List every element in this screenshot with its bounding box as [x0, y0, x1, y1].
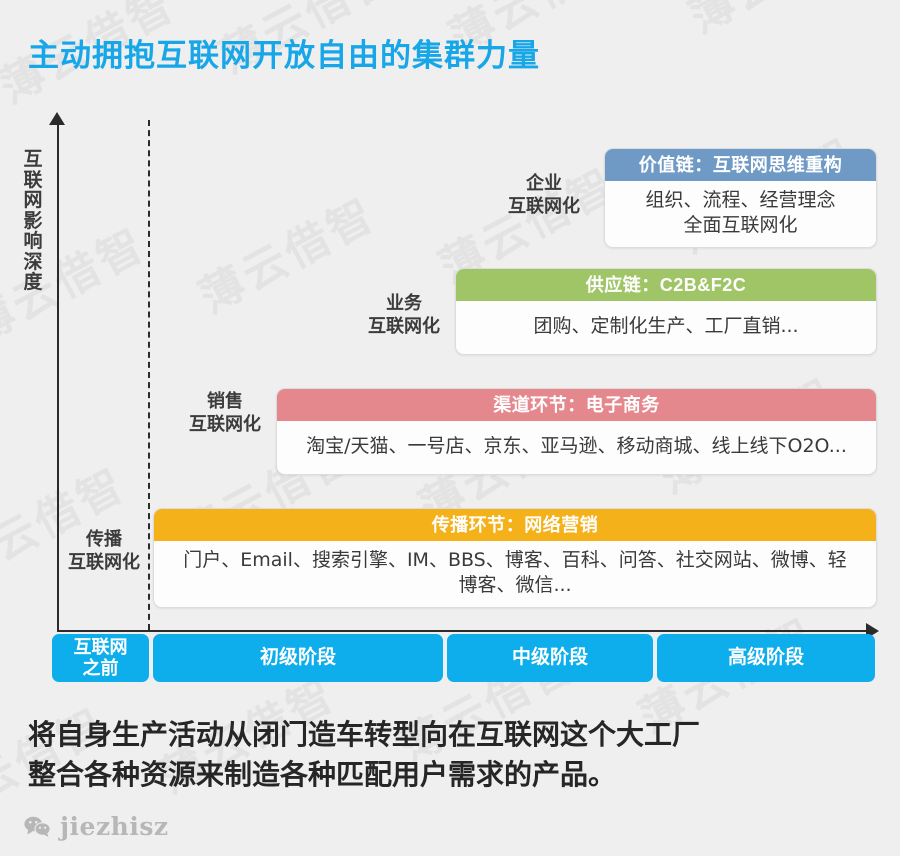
y-axis-label-char: 网: [18, 191, 48, 212]
caption-line-1: 将自身生产活动从闭门造车转型向在互联网这个大工厂: [28, 715, 888, 755]
stage-bar-advanced[interactable]: 高级阶段: [657, 634, 875, 682]
tier-body-business: 团购、定制化生产、工厂直销...: [456, 301, 876, 354]
stage-bar-pre-internet[interactable]: 互联网 之前: [52, 634, 149, 682]
tier-card-spread[interactable]: 传播环节：网络营销 门户、Email、搜索引擎、IM、BBS、博客、百科、问答、…: [153, 508, 877, 608]
wechat-icon: [24, 815, 51, 838]
tier-header-enterprise: 价值链：互联网思维重构: [605, 149, 876, 181]
y-axis-label-char: 响: [18, 232, 48, 253]
tier-header-spread: 传播环节：网络营销: [154, 509, 876, 541]
tier-body-line: 博客、微信...: [164, 573, 866, 598]
tier-body-line: 组织、流程、经营理念: [615, 188, 866, 213]
footer-handle: jiezhisz: [60, 812, 169, 841]
tier-label-sales: 销售 互联网化: [173, 390, 277, 435]
tier-header-business: 供应链：C2B&F2C: [456, 269, 876, 301]
tier-card-sales[interactable]: 渠道环节：电子商务 淘宝/天猫、一号店、京东、亚马逊、移动商城、线上线下O2O.…: [276, 388, 877, 475]
tier-label-line: 业务: [352, 292, 456, 315]
tier-card-business[interactable]: 供应链：C2B&F2C 团购、定制化生产、工厂直销...: [455, 268, 877, 355]
tier-label-line: 传播: [60, 528, 148, 551]
footer: jiezhisz: [24, 812, 169, 841]
stage-bar-line: 初级阶段: [260, 647, 336, 669]
tier-label-line: 互联网化: [60, 551, 148, 574]
page-title: 主动拥抱互联网开放自由的集群力量: [28, 30, 540, 75]
caption-line-2: 整合各种资源来制造各种匹配用户需求的产品。: [28, 755, 888, 795]
tier-body-line: 团购、定制化生产、工厂直销...: [466, 314, 866, 339]
y-axis-label-char: 影: [18, 212, 48, 233]
caption: 将自身生产活动从闭门造车转型向在互联网这个大工厂 整合各种资源来制造各种匹配用户…: [28, 715, 888, 795]
stage-bar-line: 互联网: [74, 637, 128, 658]
y-axis-label-char: 互: [18, 150, 48, 171]
stage-bar-line: 之前: [74, 658, 128, 679]
tier-label-line: 互联网化: [352, 315, 456, 338]
tier-label-line: 销售: [173, 390, 277, 413]
tier-body-line: 全面互联网化: [615, 213, 866, 238]
tier-label-line: 企业: [492, 172, 596, 195]
x-axis-line: [57, 630, 872, 632]
tier-body-line: 门户、Email、搜索引擎、IM、BBS、博客、百科、问答、社交网站、微博、轻: [164, 548, 866, 573]
tier-label-line: 互联网化: [173, 413, 277, 436]
y-axis-label-char: 深: [18, 253, 48, 274]
stage-bar-line: 中级阶段: [512, 647, 588, 669]
watermark-text: 薄云借智: [0, 449, 136, 596]
tier-body-sales: 淘宝/天猫、一号店、京东、亚马逊、移动商城、线上线下O2O...: [277, 421, 876, 474]
tier-header-sales: 渠道环节：电子商务: [277, 389, 876, 421]
tier-body-enterprise: 组织、流程、经营理念 全面互联网化: [605, 181, 876, 247]
y-axis-label-char: 度: [18, 273, 48, 294]
y-axis-line: [57, 118, 59, 632]
tier-card-enterprise[interactable]: 价值链：互联网思维重构 组织、流程、经营理念 全面互联网化: [604, 148, 877, 248]
stage-bar-line: 高级阶段: [728, 647, 804, 669]
tier-body-line: 淘宝/天猫、一号店、京东、亚马逊、移动商城、线上线下O2O...: [287, 434, 866, 459]
y-axis-label-char: 联: [18, 171, 48, 192]
watermark-text: 薄云借智: [676, 0, 876, 45]
tier-label-business: 业务 互联网化: [352, 292, 456, 337]
y-axis-label: 互 联 网 影 响 深 度: [18, 150, 48, 294]
tier-body-spread: 门户、Email、搜索引擎、IM、BBS、博客、百科、问答、社交网站、微博、轻 …: [154, 541, 876, 607]
internet-boundary-dashed-line: [148, 120, 150, 630]
diagram-canvas: 薄云借智 薄云借智 薄云借智 薄云借智 薄云借智 薄云借智 薄云借智 薄云借智 …: [0, 0, 900, 856]
stage-bar-primary[interactable]: 初级阶段: [153, 634, 443, 682]
tier-label-enterprise: 企业 互联网化: [492, 172, 596, 217]
tier-label-spread: 传播 互联网化: [60, 528, 148, 573]
tier-label-line: 互联网化: [492, 195, 596, 218]
stage-bar-intermediate[interactable]: 中级阶段: [447, 634, 653, 682]
